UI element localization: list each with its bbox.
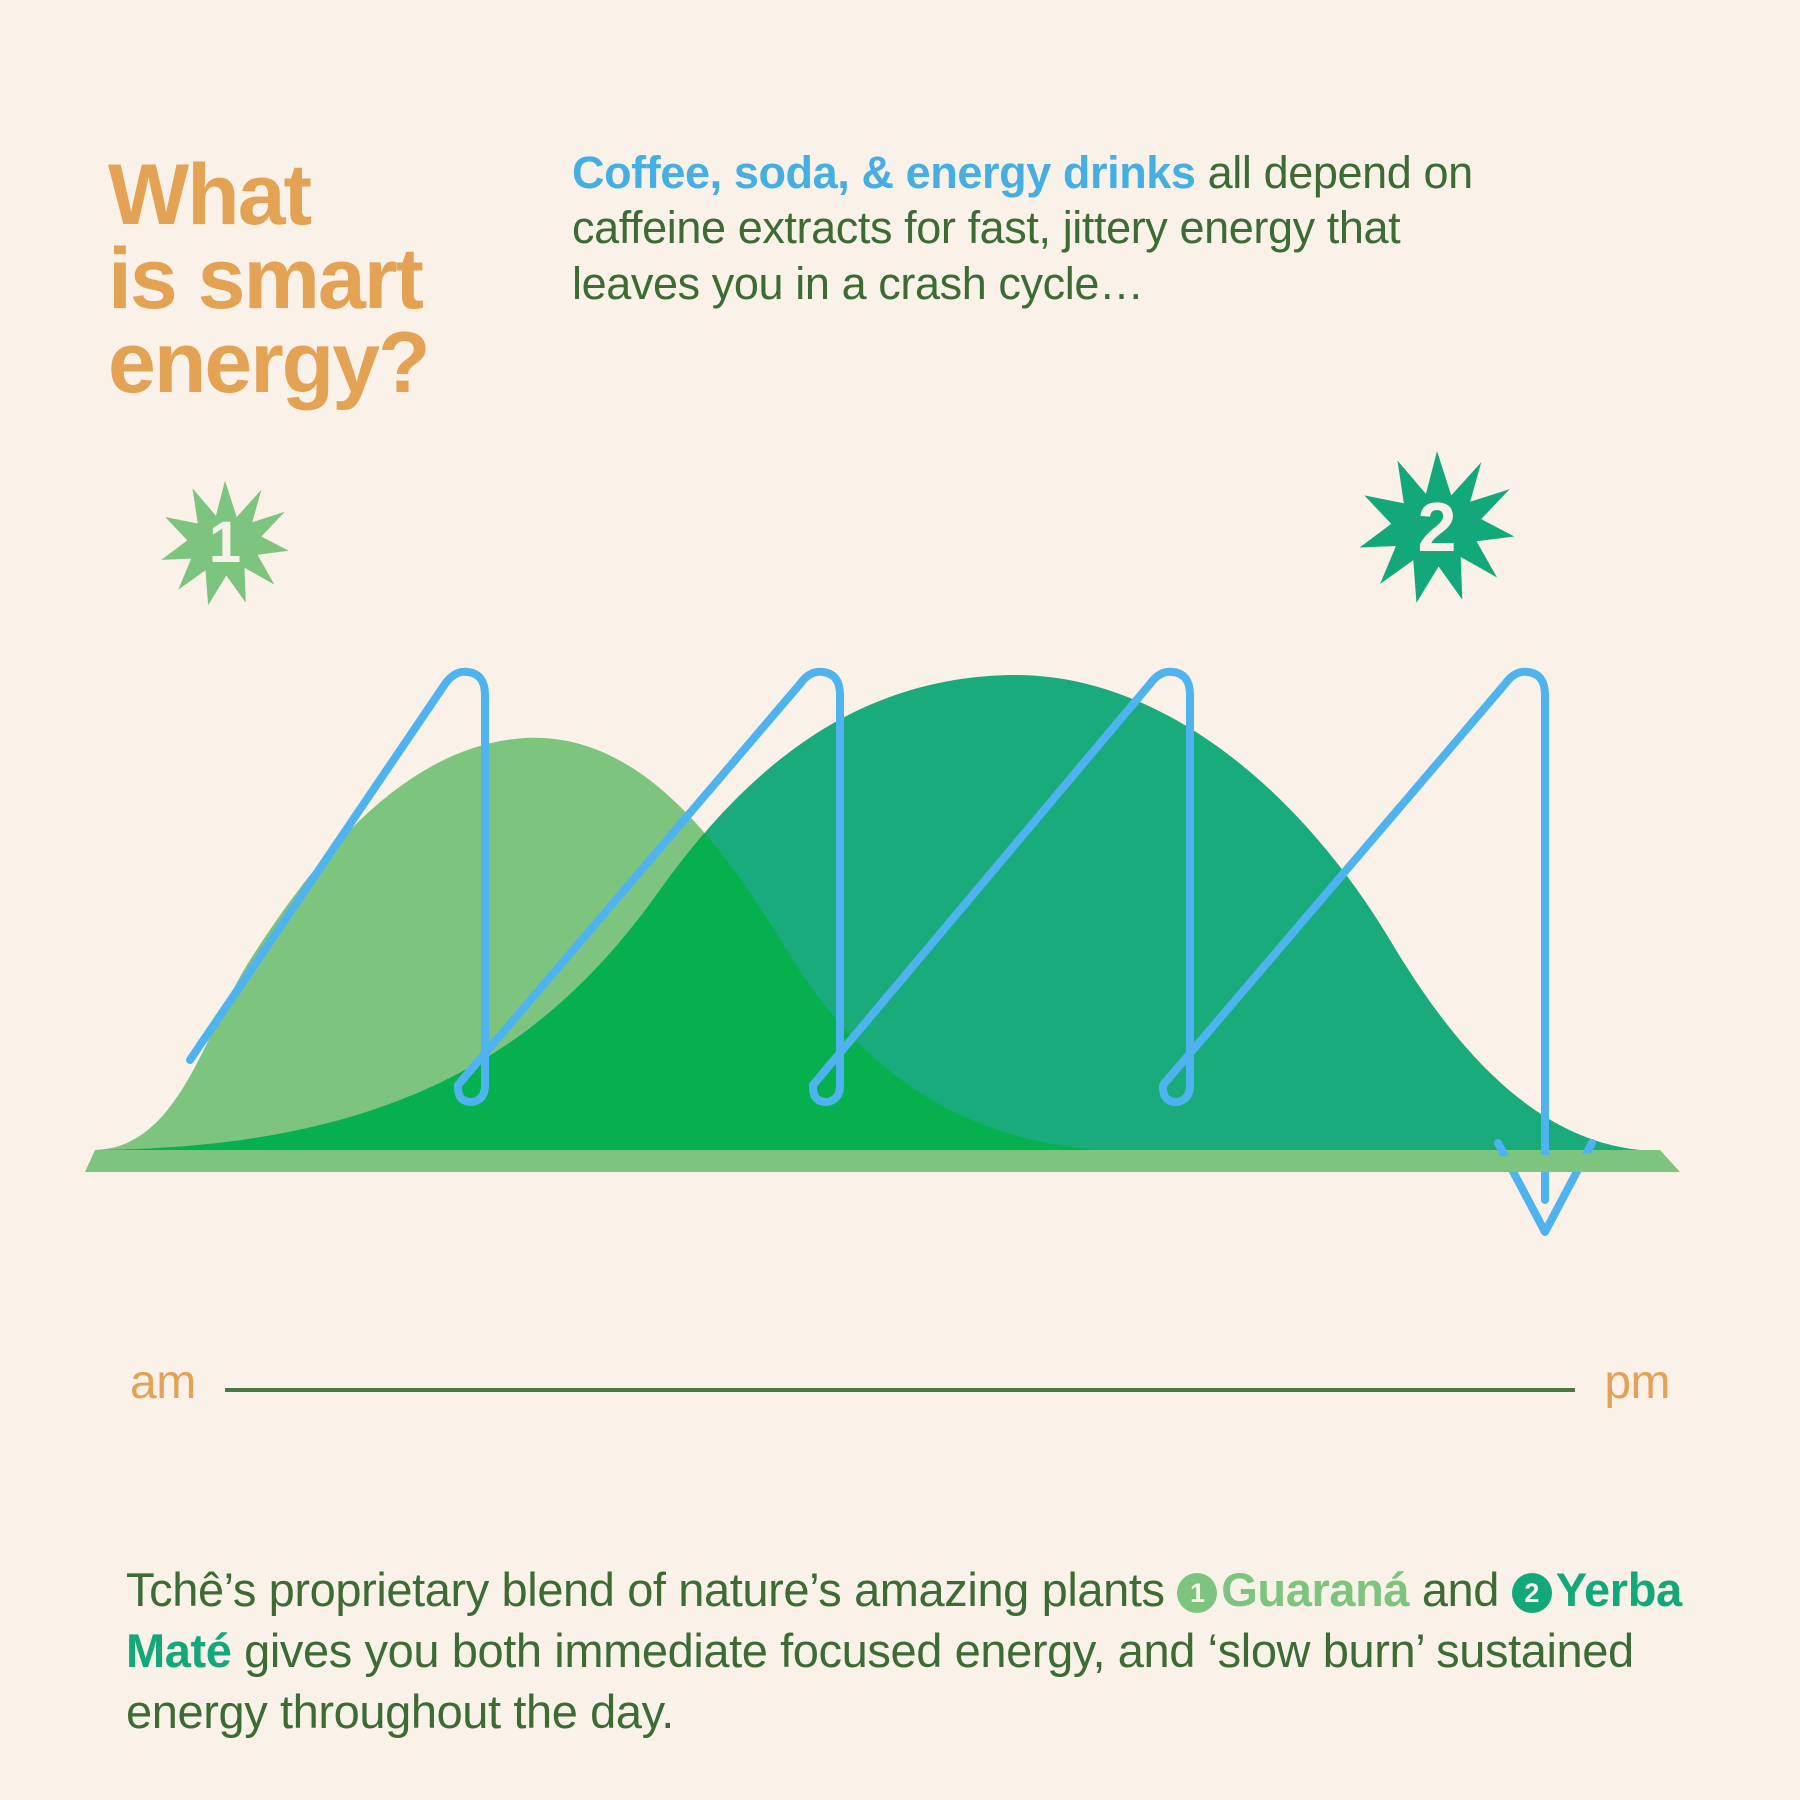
energy-chart-svg [0, 560, 1800, 1300]
caption-emph-guarana: Guaraná [1221, 1563, 1409, 1616]
infographic-page: What is smart energy? Coffee, soda, & en… [0, 0, 1800, 1800]
caption-seg-0: Tchê’s proprietary blend of nature’s ama… [126, 1563, 1177, 1616]
headline-line-2: is smart [108, 237, 528, 321]
caption-badge-yerba-mate: 2 [1512, 1573, 1552, 1613]
time-axis: am pm [0, 1355, 1800, 1445]
page-title: What is smart energy? [108, 153, 528, 406]
intro-highlight: Coffee, soda, & energy drinks [572, 147, 1196, 198]
axis-label-pm: pm [1604, 1355, 1670, 1410]
caption-badge-guarana: 1 [1177, 1573, 1217, 1613]
badge-yerba-mate-number: 2 [1358, 492, 1516, 562]
energy-chart [0, 560, 1800, 1300]
caption-paragraph: Tchê’s proprietary blend of nature’s ama… [126, 1559, 1686, 1742]
axis-line [225, 1388, 1575, 1392]
headline-line-1: What [108, 153, 528, 237]
caption-seg-6: gives you both immediate focused energy,… [126, 1624, 1634, 1738]
intro-paragraph: Coffee, soda, & energy drinks all depend… [572, 145, 1492, 311]
caption-seg-3: and [1409, 1563, 1512, 1616]
headline-line-3: energy? [108, 321, 528, 405]
axis-label-am: am [130, 1355, 196, 1410]
